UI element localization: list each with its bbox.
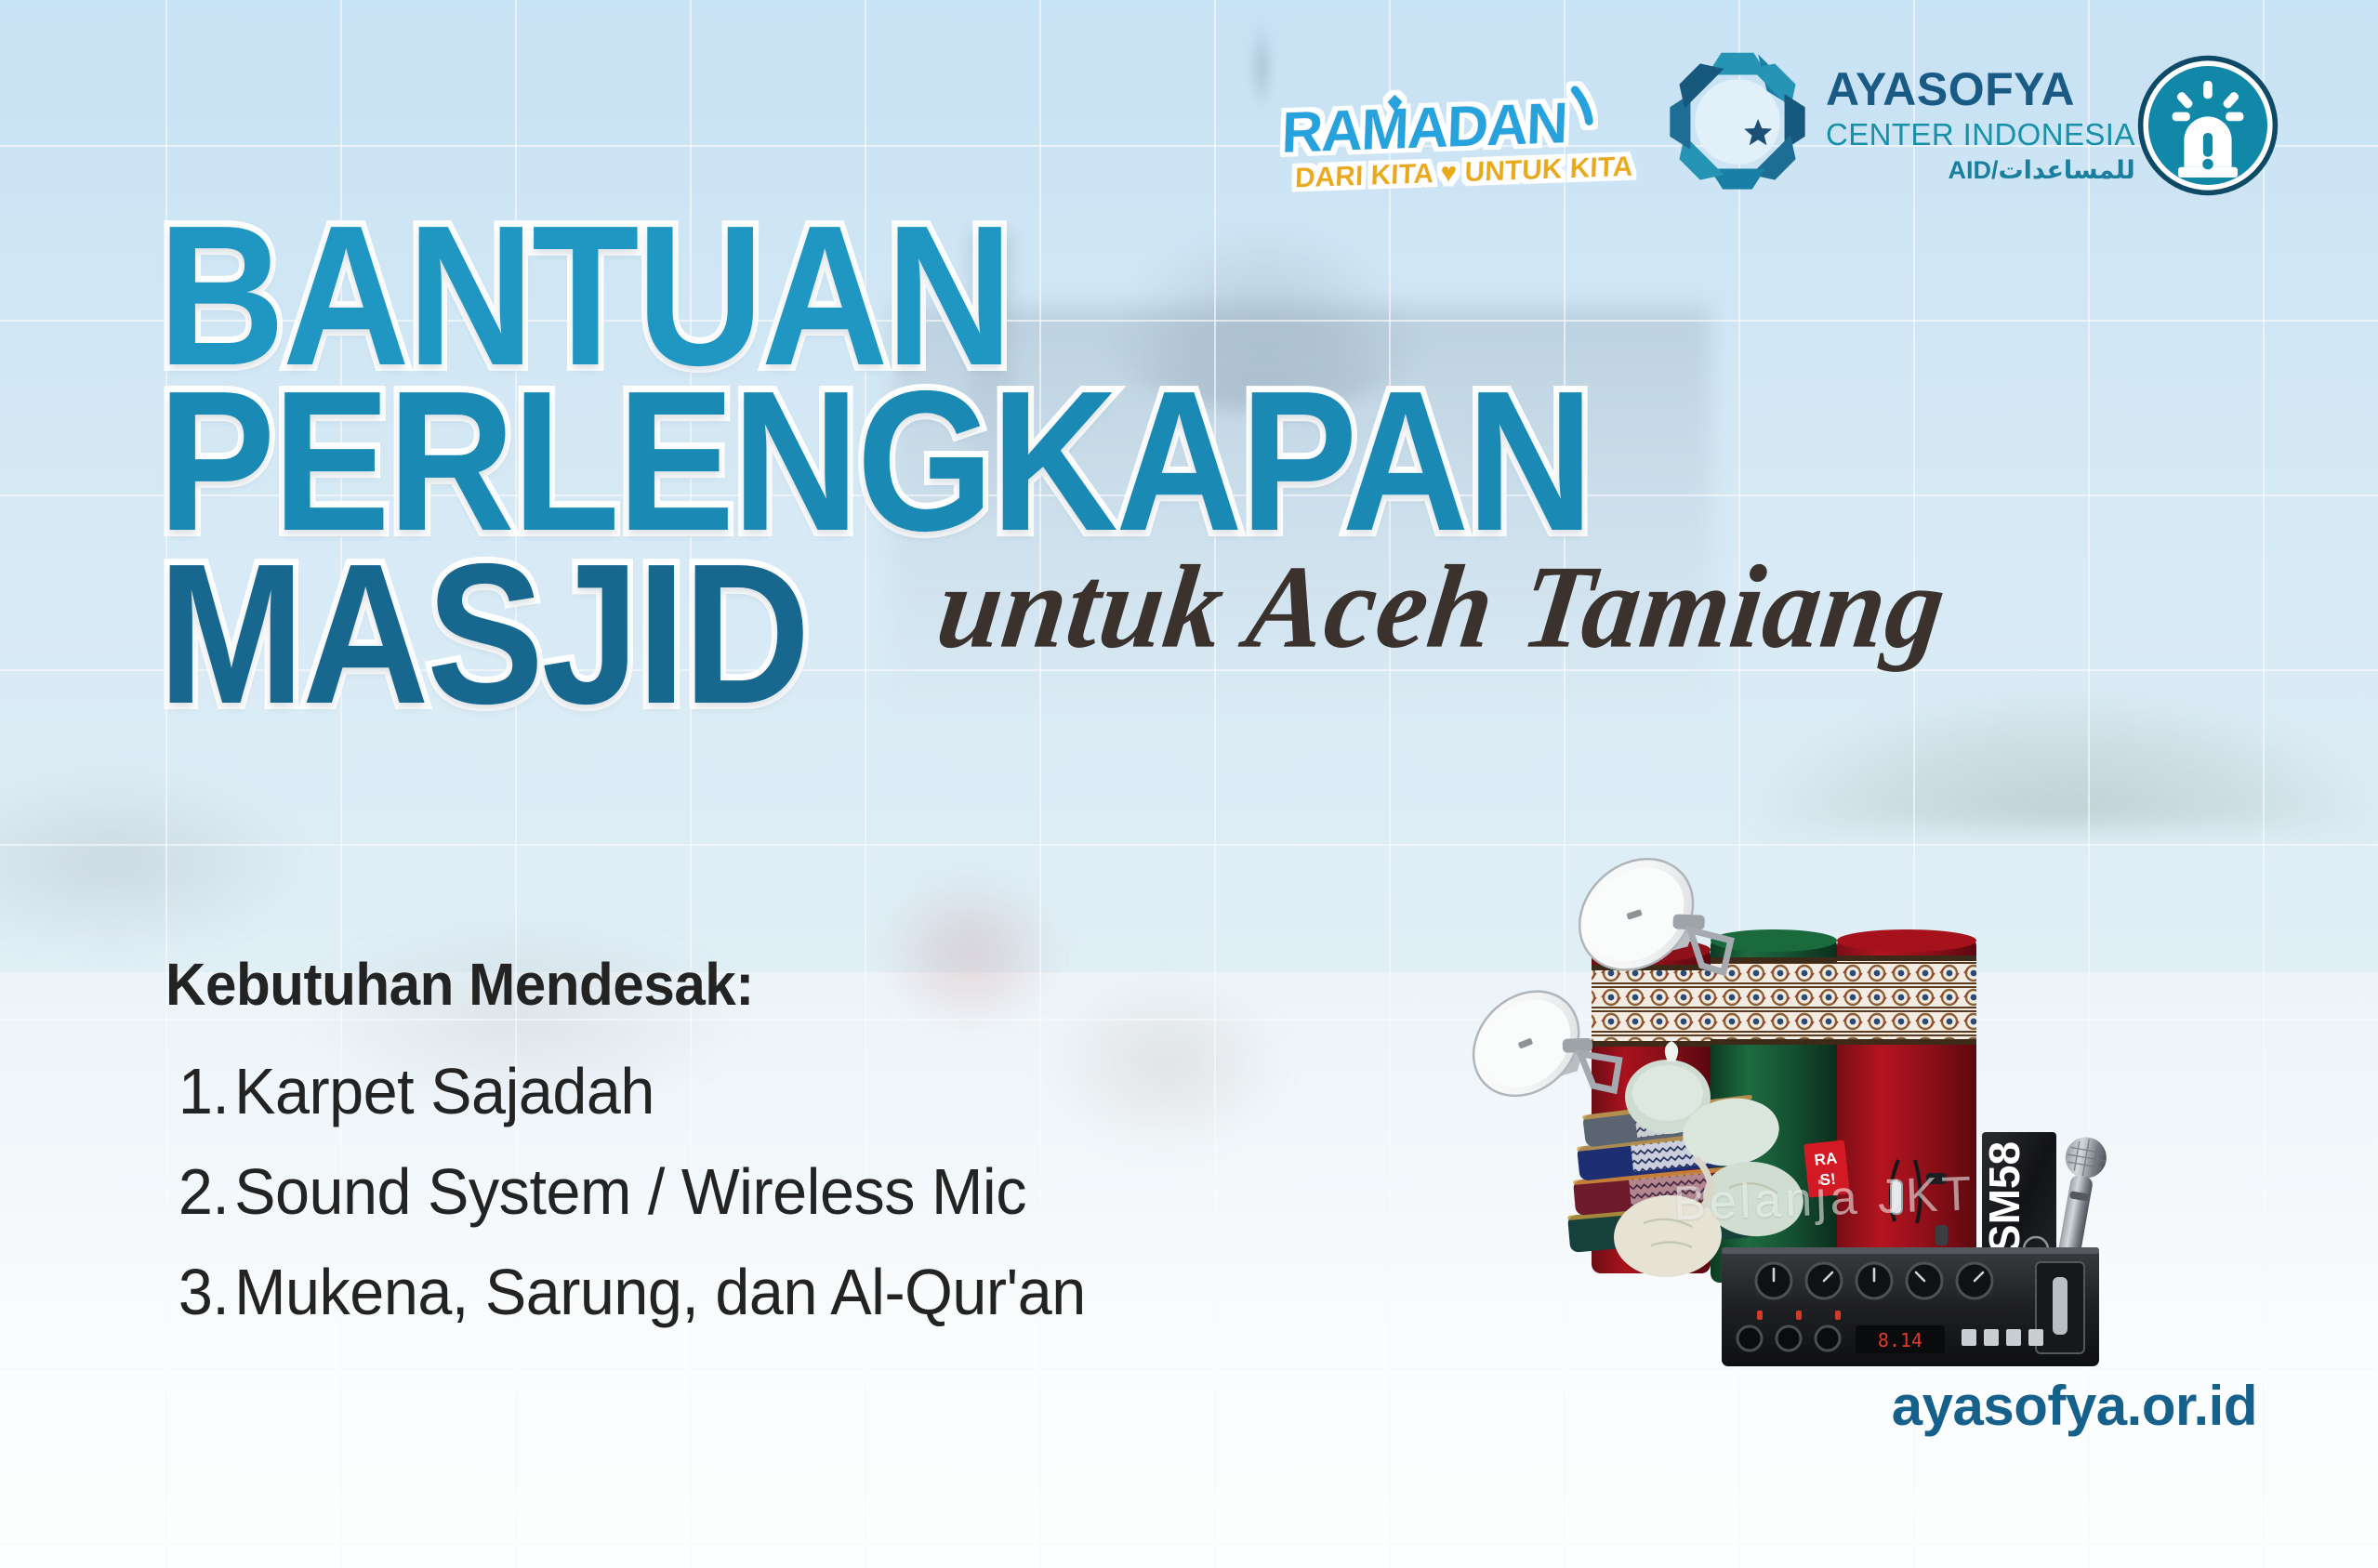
ayasofya-octagon-mark — [1664, 48, 1811, 195]
promo-tag: RA S! — [1803, 1140, 1850, 1197]
svg-text:RA: RA — [1814, 1149, 1838, 1168]
aid-latin: AID — [1948, 156, 1991, 184]
svg-text:S!: S! — [1819, 1170, 1837, 1190]
poster-canvas: RAMADAN DARI KITA ♥ UNTUK KITA — [0, 0, 2378, 1568]
prayer-carpet-red-2 — [1837, 929, 1976, 1292]
mic-clip — [1926, 1173, 1947, 1184]
needs-title: Kebutuhan Mendesak: — [165, 950, 1433, 1019]
audio-amplifier: 8.14 — [1722, 1247, 2099, 1366]
headline-line-3: MASJID — [158, 554, 808, 714]
ayasofya-subtitle: CENTER INDONESIA — [1826, 119, 2135, 150]
siren-alert-icon — [2134, 51, 2282, 200]
product-collage: RA S! SM58 — [1478, 864, 2147, 1371]
mic-jack — [1935, 1225, 1948, 1245]
headline-line-2: PERLENGKAPAN — [158, 381, 1958, 541]
list-item-number: 3. — [165, 1255, 234, 1329]
needs-list: 1. Karpet Sajadah 2. Sound System / Wire… — [165, 1054, 1513, 1329]
amp-inputs — [1737, 1326, 1840, 1351]
list-item: 1. Karpet Sajadah — [165, 1054, 1447, 1128]
amp-display-value: 8.14 — [1878, 1329, 1922, 1351]
list-item-label: Karpet Sajadah — [234, 1054, 654, 1128]
lapel-mic-capsule — [1891, 1180, 1902, 1214]
list-item-label: Sound System / Wireless Mic — [234, 1154, 1026, 1229]
ayasofya-aid-line: للمساعدات/AID — [1826, 158, 2135, 183]
ayasofya-name: AYASOFYA — [1826, 66, 2135, 112]
headline-script-subtitle: untuk Aceh Tamiang — [931, 538, 1953, 676]
website-url[interactable]: ayasofya.or.id — [1892, 1374, 2257, 1438]
headline-block: BANTUAN PERLENGKAPAN MASJID untuk Aceh T… — [158, 216, 2203, 714]
list-item: 3. Mukena, Sarung, dan Al-Qur'an — [165, 1255, 1447, 1329]
ayasofya-logo: AYASOFYA CENTER INDONESIA للمساعدات/AID — [1664, 48, 2135, 195]
ramadan-logo: RAMADAN DARI KITA ♥ UNTUK KITA — [1279, 84, 1599, 197]
mosque-spire-silhouette — [1243, 0, 1280, 112]
urgent-needs-block: Kebutuhan Mendesak: 1. Karpet Sajadah 2.… — [165, 950, 1513, 1355]
list-item: 2. Sound System / Wireless Mic — [165, 1154, 1447, 1229]
sm58-label: SM58 — [1980, 1141, 2028, 1253]
aid-arabic: للمساعدات — [1998, 156, 2134, 185]
list-item-label: Mukena, Sarung, dan Al-Qur'an — [234, 1255, 1086, 1329]
headline-line-3-row: MASJID untuk Aceh Tamiang — [158, 541, 2203, 714]
ramadan-swash — [1575, 89, 1589, 121]
list-item-number: 1. — [165, 1054, 234, 1128]
list-item-number: 2. — [165, 1154, 234, 1229]
